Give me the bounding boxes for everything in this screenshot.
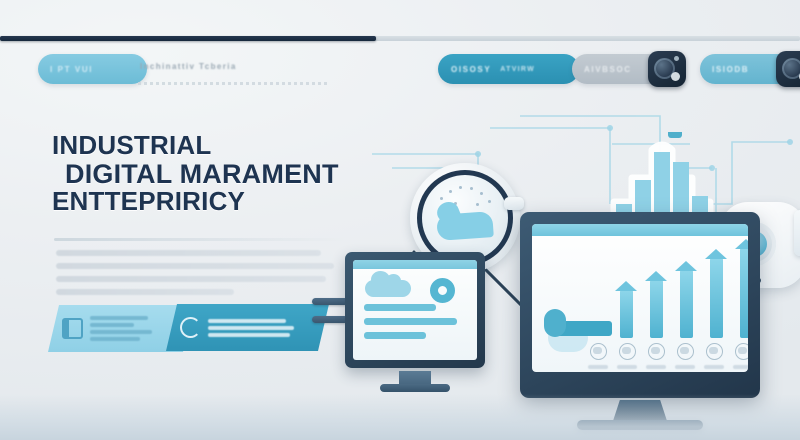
button-label: [208, 319, 294, 337]
chart-bar: [680, 270, 693, 338]
chart-icon: [648, 343, 665, 360]
headline-line-1: INDUSTRIAL: [52, 132, 382, 160]
hero-banner: I PT VUI Inchinattiv Tcberia OISOSY ATVI…: [0, 0, 800, 440]
cloud-swoosh-icon: [436, 211, 494, 241]
chart-icon: [590, 343, 607, 360]
title-underline: [54, 238, 346, 241]
panel-icon: [62, 318, 83, 339]
primary-action-button[interactable]: [166, 304, 329, 351]
equals-divider: [312, 298, 348, 334]
headline-line-3: ENTTEPRIRICY: [52, 188, 382, 216]
button-label: [90, 316, 152, 341]
monitor-base: [577, 420, 703, 430]
monitor-base: [380, 384, 450, 392]
chart-bar: [620, 290, 633, 338]
progress-fill: [0, 36, 376, 41]
top-progress-bar[interactable]: [0, 36, 800, 41]
badge-pill-3[interactable]: AIVBSOC: [572, 54, 684, 84]
page-title: INDUSTRIAL DIGITAL MARAMENT ENTTEPRIRICY: [52, 132, 382, 216]
badge-row: I PT VUI Inchinattiv Tcberia OISOSY ATVI…: [0, 52, 800, 92]
badge-pill-2[interactable]: OISOSY ATVIRW: [438, 54, 579, 84]
chart-tick-label: [588, 365, 608, 369]
chart-bar: [710, 258, 723, 338]
content-bar: [364, 318, 457, 325]
chart-icon: [619, 343, 636, 360]
chart-tick-label: [733, 365, 748, 369]
chart-icon: [735, 343, 748, 360]
chart-icon: [677, 343, 694, 360]
badge-label: OISOSY: [451, 65, 491, 74]
chart-bar: [740, 248, 748, 338]
badge-sublabel: ATVIRW: [500, 66, 535, 73]
dotted-rule: [138, 82, 328, 85]
growth-bar-chart: [532, 236, 748, 372]
chart-tick-label: [704, 365, 724, 369]
magnifier-handle: [504, 197, 524, 210]
cloud-icon: [365, 280, 411, 297]
kpi-block: [550, 321, 612, 336]
refresh-icon: [180, 317, 201, 338]
chart-tick-label: [617, 365, 637, 369]
content-bar: [364, 304, 436, 311]
badge-pill-4[interactable]: ISIODB: [700, 54, 800, 84]
small-monitor[interactable]: [345, 252, 485, 368]
small-monitor-screen: [353, 260, 477, 360]
chart-tick-label: [646, 365, 666, 369]
chart-bar: [650, 280, 663, 338]
side-label: Inchinattiv Tcberia: [140, 62, 237, 71]
large-monitor-screen: [532, 224, 748, 372]
chart-tick-label: [675, 365, 695, 369]
headline-line-2: DIGITAL MARAMENT: [65, 160, 382, 189]
badge-pill-1[interactable]: I PT VUI: [38, 54, 147, 84]
badge-label: ISIODB: [712, 65, 749, 74]
robot-side-panel: [794, 210, 800, 256]
large-monitor[interactable]: [520, 212, 760, 398]
badge-label: I PT VUI: [50, 65, 93, 74]
content-bar: [364, 332, 426, 339]
donut-chart-icon: [430, 278, 455, 303]
camera-lens-icon: [776, 51, 800, 87]
camera-lens-icon: [648, 51, 686, 87]
badge-label: AIVBSOC: [584, 65, 632, 74]
body-paragraph: [56, 250, 338, 302]
chart-icon: [706, 343, 723, 360]
